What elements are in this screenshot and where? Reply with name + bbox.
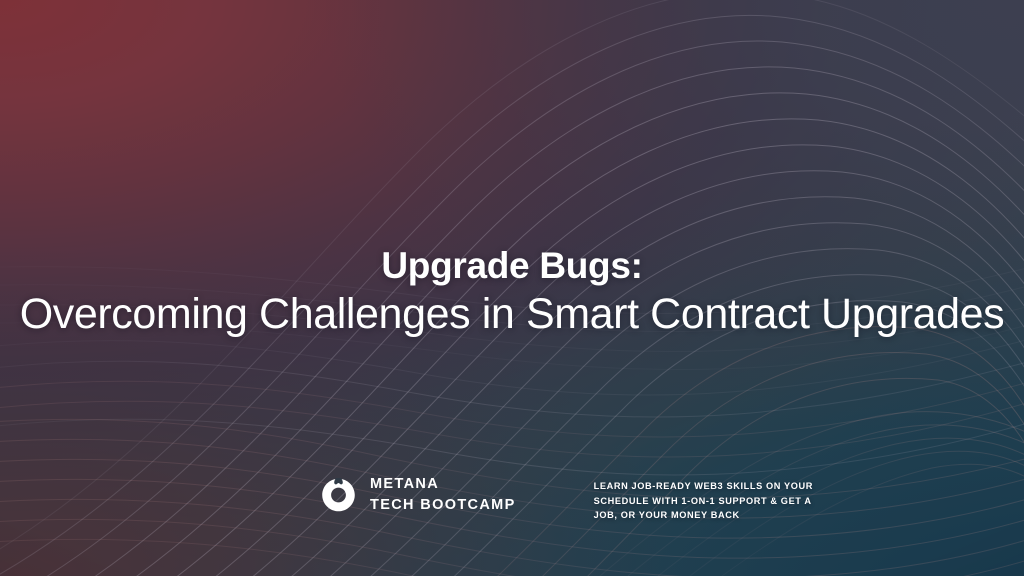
metana-ring-logo-icon [320,478,357,515]
footer-lockup: METANA TECH BOOTCAMP LEARN JOB-READY WEB… [320,474,813,523]
brand-lockup: METANA TECH BOOTCAMP [320,474,516,516]
tagline-line-2: SCHEDULE WITH 1-ON-1 SUPPORT & GET A [594,494,813,509]
brand-wordmark-line-1: METANA [370,474,516,495]
slide-headline: Upgrade Bugs: Overcoming Challenges in S… [0,246,1024,340]
title-slide: Upgrade Bugs: Overcoming Challenges in S… [0,0,1024,576]
tagline-line-1: LEARN JOB-READY WEB3 SKILLS ON YOUR [594,479,813,494]
headline-line-2: Overcoming Challenges in Smart Contract … [0,289,1024,340]
brand-wordmark: METANA TECH BOOTCAMP [370,474,516,516]
headline-line-1: Upgrade Bugs: [0,246,1024,286]
brand-wordmark-line-2: TECH BOOTCAMP [370,495,516,516]
tagline-line-3: JOB, OR YOUR MONEY BACK [594,508,813,523]
brand-tagline: LEARN JOB-READY WEB3 SKILLS ON YOUR SCHE… [594,479,813,523]
